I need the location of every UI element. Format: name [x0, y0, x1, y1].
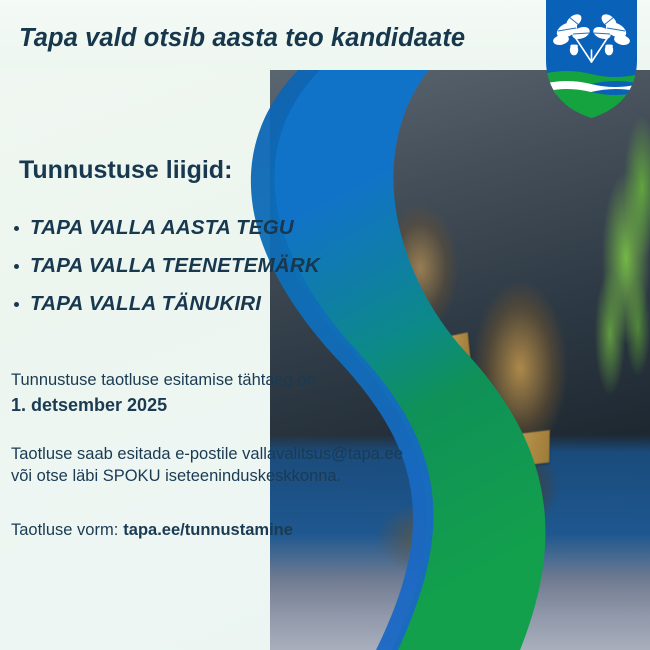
submission-line-2: või otse läbi SPOKU iseteeninduskeskkonn… [11, 467, 341, 485]
submission-block: Taotluse saab esitada e-postile vallaval… [11, 443, 403, 488]
deadline-date: 1. detsember 2025 [11, 393, 316, 417]
section-heading-award-types: Tunnustuse liigid: [19, 156, 232, 185]
form-url-link[interactable]: tapa.ee/tunnustamine [123, 521, 293, 539]
tapa-vald-coat-of-arms-icon [543, 0, 640, 118]
award-photo: Aasta Tegu [270, 68, 650, 650]
form-label: Taotluse vorm: [11, 521, 118, 539]
submission-line-1: Taotluse saab esitada e-postile vallaval… [11, 445, 403, 463]
deadline-label: Tunnustuse taotluse esitamise tähtaeg on [11, 371, 316, 389]
form-block: Taotluse vorm:tapa.ee/tunnustamine [11, 519, 293, 541]
list-item: TAPA VALLA TEENETEMÄRK [12, 254, 320, 278]
list-item: TAPA VALLA AASTA TEGU [12, 216, 320, 240]
poster-canvas: Aasta Tegu [0, 0, 650, 650]
list-item: TAPA VALLA TÄNUKIRI [12, 292, 320, 316]
award-types-list: TAPA VALLA AASTA TEGU TAPA VALLA TEENETE… [12, 216, 320, 330]
page-title: Tapa vald otsib aasta teo kandidaate [19, 24, 465, 53]
deadline-block: Tunnustuse taotluse esitamise tähtaeg on… [11, 369, 316, 418]
